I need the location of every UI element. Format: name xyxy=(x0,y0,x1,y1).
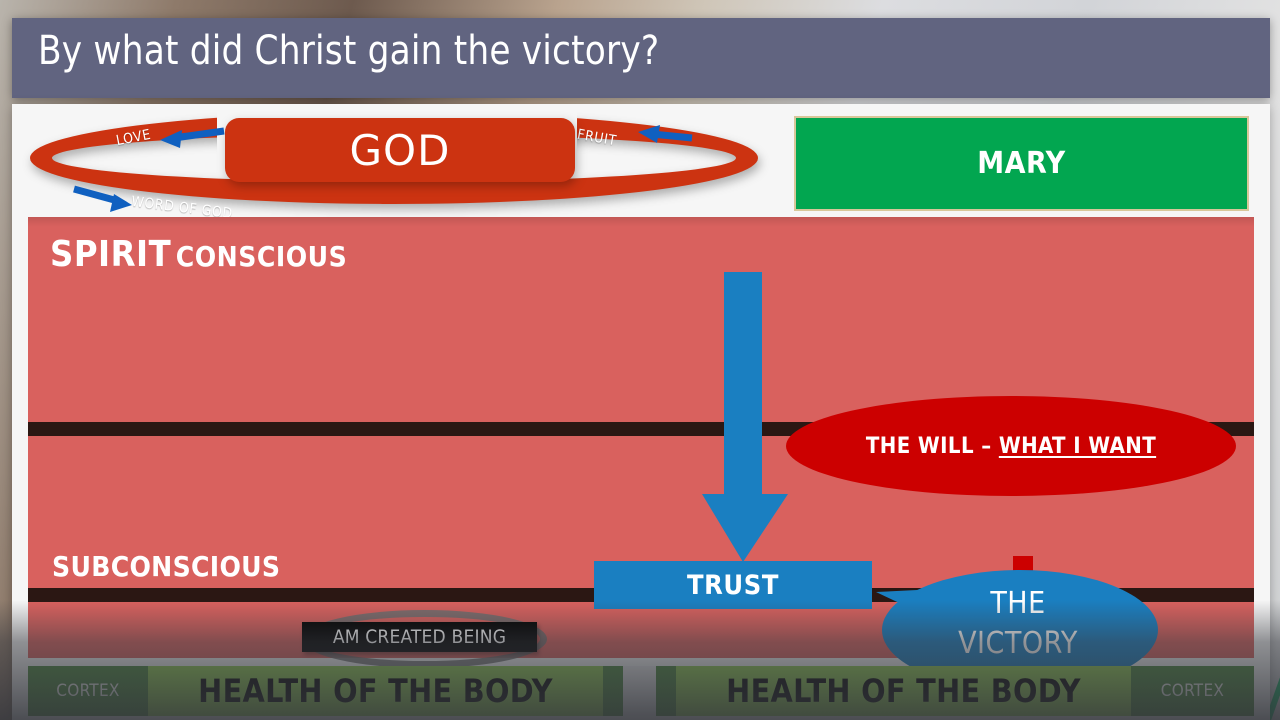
bottom-bar-row: CORTEXHEALTH OF THE BODYHEALTH OF THE BO… xyxy=(28,666,1254,716)
mary-label: MARY xyxy=(977,146,1065,181)
health-left: HEALTH OF THE BODY xyxy=(148,666,603,716)
subconscious-label: SUBCONSCIOUS xyxy=(52,550,280,583)
trust-label: TRUST xyxy=(687,570,779,601)
slide-title-bar: By what did Christ gain the victory? xyxy=(12,18,1270,98)
health-right-label: HEALTH OF THE BODY xyxy=(726,672,1081,710)
arrow-right-icon-word xyxy=(74,189,132,212)
divider-dark-right xyxy=(656,666,676,716)
arrow-left-icon-love xyxy=(160,130,224,148)
god-label: GOD xyxy=(350,126,451,175)
created-being-label: AM CREATED BEING xyxy=(333,626,506,648)
victory-text: THE VICTORY xyxy=(918,584,1118,664)
trust-box: TRUST xyxy=(594,561,872,609)
spirit-heading: SPIRIT CONSCIOUS xyxy=(50,234,347,275)
divider-dark-left xyxy=(603,666,623,716)
the-will-ellipse: THE WILL – WHAT I WANT xyxy=(786,396,1236,496)
the-will-label: THE WILL – WHAT I WANT xyxy=(866,434,1156,459)
cortex-left: CORTEX xyxy=(28,666,148,716)
slide-title: By what did Christ gain the victory? xyxy=(38,28,659,74)
god-pill: GOD xyxy=(225,118,575,182)
conscious-word: CONSCIOUS xyxy=(176,240,347,273)
slide-canvas: LOVE FRUIT WORD OF GOD GOD MARY SPIRIT C… xyxy=(12,104,1270,720)
spirit-word: SPIRIT xyxy=(50,234,171,275)
health-right: HEALTH OF THE BODY xyxy=(676,666,1131,716)
panel-top-shade xyxy=(28,217,1254,227)
created-being-box: AM CREATED BEING xyxy=(302,622,537,652)
cortex-right: CORTEX xyxy=(1131,666,1254,716)
slide: By what did Christ gain the victory? xyxy=(12,18,1270,720)
mary-box: MARY xyxy=(794,116,1249,211)
divider-gap xyxy=(623,666,656,716)
slide-stage: By what did Christ gain the victory? xyxy=(0,0,1280,720)
health-left-label: HEALTH OF THE BODY xyxy=(198,672,553,710)
arrow-left-icon-fruit xyxy=(638,125,692,143)
created-being-group: AM CREATED BEING xyxy=(302,604,547,674)
victory-line-1: THE xyxy=(990,586,1045,621)
victory-line-2: VICTORY xyxy=(958,626,1078,661)
cortex-right-label: CORTEX xyxy=(1161,681,1224,701)
big-down-arrow-icon xyxy=(700,272,790,562)
cortex-left-label: CORTEX xyxy=(56,681,119,701)
